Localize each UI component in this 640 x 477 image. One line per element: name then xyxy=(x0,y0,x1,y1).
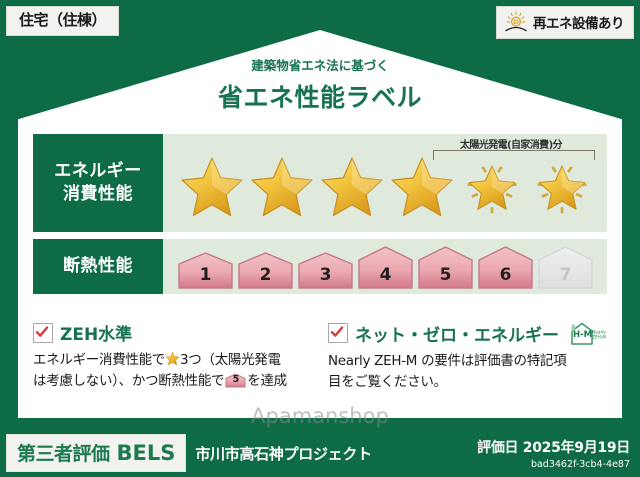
footer-bar: 第三者評価 BELS 市川市高石神プロジェクト 評価日 2025年9月19日 b… xyxy=(0,429,640,477)
insulation-level-1-number: 1 xyxy=(177,265,234,285)
criteria-net-zero-energy: ネット・ゼロ・エネルギー H-M Nearly ZEH-M Nearly ZEH… xyxy=(328,320,613,393)
svg-text:H-M: H-M xyxy=(573,330,592,340)
evaluation-info: 評価日 2025年9月19日 bad3462f-3cb4-4e87 xyxy=(477,437,630,470)
insulation-level-3-number: 3 xyxy=(297,265,354,285)
insulation-level-2-number: 2 xyxy=(237,265,294,285)
zeh-m-logo-icon: H-M Nearly ZEH-M xyxy=(566,320,606,346)
star-1 xyxy=(177,152,247,222)
evaluation-date: 評価日 2025年9月19日 xyxy=(477,437,630,457)
criteria-nze-header: ネット・ゼロ・エネルギー H-M Nearly ZEH-M xyxy=(328,320,613,346)
energy-label-line2: 消費性能 xyxy=(63,183,133,206)
watermark: Apamanshop xyxy=(0,404,640,428)
insulation-performance-row: 断熱性能 1 xyxy=(33,239,607,294)
insulation-level-6-number: 6 xyxy=(477,265,534,285)
insulation-level-1: 1 xyxy=(177,250,234,290)
net-zero-energy-title: ネット・ゼロ・エネルギー xyxy=(355,321,559,346)
star-4 xyxy=(387,152,457,222)
energy-label-line1: エネルギー xyxy=(54,160,142,183)
energy-performance-row: エネルギー 消費性能 太陽光発電(自家消費)分 xyxy=(33,134,607,232)
insulation-performance-label: 断熱性能 xyxy=(33,239,163,294)
zeh-text-part3: を達成 xyxy=(247,373,287,389)
zeh-description: エネルギー消費性能で3つ（太陽光発電 は考慮しない）、かつ断熱性能で5を達成 xyxy=(33,350,318,392)
nze-text-line1: Nearly ZEH-M の要件は評価書の特記項 xyxy=(328,353,566,369)
renewable-energy-badge: 再エネ設備あり xyxy=(496,6,634,39)
label-title-block: 建築物省エネ法に基づく 省エネ性能ラベル xyxy=(0,55,640,114)
bels-jp-label: 第三者評価 xyxy=(17,439,110,466)
insulation-label-text: 断熱性能 xyxy=(63,255,133,278)
insulation-level-4: 4 xyxy=(357,244,414,290)
insulation-level-5-number: 5 xyxy=(417,265,474,285)
insulation-level-6: 6 xyxy=(477,244,534,290)
insulation-level-7: 7 xyxy=(537,244,594,290)
net-zero-energy-description: Nearly ZEH-M の要件は評価書の特記項 目をご覧ください。 xyxy=(328,351,613,393)
insulation-level-2: 2 xyxy=(237,250,294,290)
zeh-checkbox[interactable] xyxy=(33,323,53,343)
criteria-section: ZEH水準 エネルギー消費性能で3つ（太陽光発電 は考慮しない）、かつ断熱性能で… xyxy=(33,320,613,393)
inline-star-icon xyxy=(165,351,180,366)
zeh-text-part2: は考慮しない）、かつ断熱性能で xyxy=(33,373,224,389)
star-6-solar xyxy=(527,152,597,222)
sun-icon xyxy=(503,11,529,33)
dwelling-type-label: 住宅（住棟） xyxy=(19,11,106,29)
project-name: 市川市高石神プロジェクト xyxy=(195,443,371,464)
svg-text:ZEH-M: ZEH-M xyxy=(592,335,606,340)
evaluation-id: bad3462f-3cb4-4e87 xyxy=(477,459,630,470)
criteria-zeh-standard: ZEH水準 エネルギー消費性能で3つ（太陽光発電 は考慮しない）、かつ断熱性能で… xyxy=(33,320,318,393)
insulation-level-3: 3 xyxy=(297,250,354,290)
star-2 xyxy=(247,152,317,222)
star-rating xyxy=(163,152,597,222)
energy-performance-label: エネルギー 消費性能 xyxy=(33,134,163,232)
insulation-level-scale: 1 2 3 xyxy=(163,244,594,290)
star-3 xyxy=(317,152,387,222)
title-subtitle: 建築物省エネ法に基づく xyxy=(0,55,640,74)
zeh-text-part1: エネルギー消費性能で xyxy=(33,352,165,368)
zeh-star-count: 3つ（太陽光発電 xyxy=(180,352,281,368)
inline-insulation-value: 5 xyxy=(225,373,246,388)
insulation-level-5: 5 xyxy=(417,244,474,290)
bels-certification-badge: 第三者評価 BELS xyxy=(6,434,186,472)
inline-insulation-badge: 5 xyxy=(225,373,246,388)
insulation-level-7-number: 7 xyxy=(537,265,594,285)
zeh-title: ZEH水準 xyxy=(60,320,132,345)
title-main: 省エネ性能ラベル xyxy=(0,78,640,114)
bels-en-label: BELS xyxy=(117,441,176,465)
renewable-energy-label: 再エネ設備あり xyxy=(533,12,624,32)
criteria-zeh-header: ZEH水準 xyxy=(33,320,318,345)
energy-rating-field: 太陽光発電(自家消費)分 xyxy=(163,134,607,232)
insulation-level-4-number: 4 xyxy=(357,265,414,285)
net-zero-energy-checkbox[interactable] xyxy=(328,323,348,343)
dwelling-type-badge: 住宅（住棟） xyxy=(6,6,119,36)
performance-rows: エネルギー 消費性能 太陽光発電(自家消費)分 xyxy=(33,134,607,301)
insulation-rating-field: 1 2 3 xyxy=(163,239,607,294)
star-5-solar xyxy=(457,152,527,222)
energy-performance-label: 住宅（住棟） 再エネ設備あり 建築物省エネ法に基づく xyxy=(0,0,640,477)
solar-annotation-label: 太陽光発電(自家消費)分 xyxy=(427,136,595,151)
nze-text-line2: 目をご覧ください。 xyxy=(328,374,447,390)
